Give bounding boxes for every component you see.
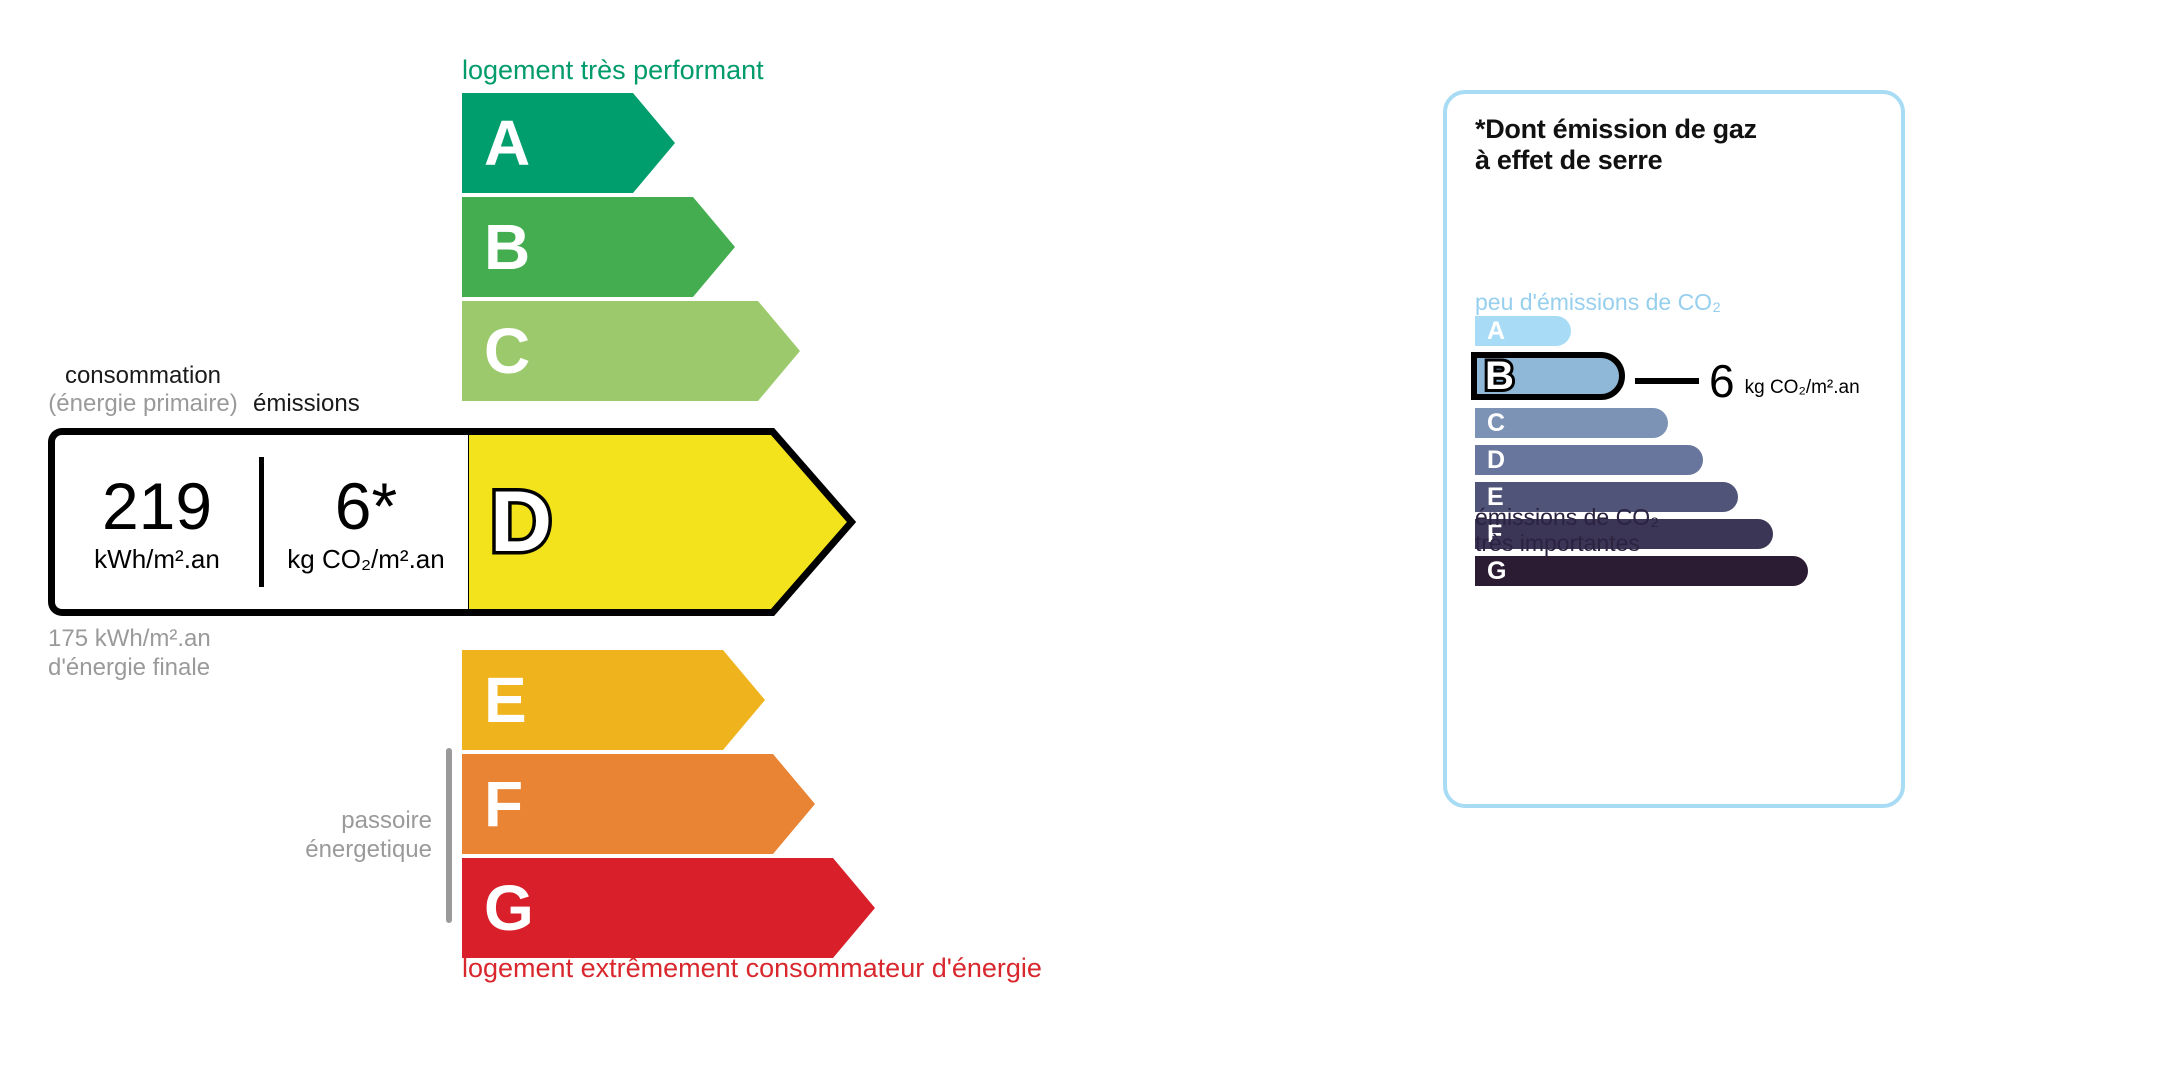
co2-callout-unit: kg CO₂/m².an (1745, 377, 1860, 399)
final-energy-label: 175 kWh/m².an d'énergie finale (48, 625, 211, 683)
energy-bar-letter-c: C (484, 301, 530, 401)
consumption-label-line1: consommation (48, 362, 238, 390)
consumption-value: 219 (102, 475, 212, 538)
callout-leader-line (1635, 378, 1699, 384)
dpe-label: logement très performant ABCDEFG consomm… (0, 0, 2170, 1079)
value-box: 219 kWh/m².an 6* kg CO₂/m².an (48, 428, 468, 616)
co2-bar-shape-g (1475, 556, 1808, 586)
co2-panel-title: *Dont émission de gaz à effet de serre (1475, 114, 1757, 176)
consumption-unit: kWh/m².an (94, 544, 220, 575)
consumption-label-line2: (énergie primaire) (48, 390, 238, 418)
co2-bar-g: G (1475, 556, 1808, 586)
co2-bars-area: AB6kg CO₂/m².anCDEFG (1475, 316, 1875, 501)
co2-bar-letter-a: A (1487, 316, 1505, 346)
co2-bottom-caption-line2: très importantes (1475, 530, 1659, 556)
co2-bar-a: A (1475, 316, 1571, 346)
energy-bar-letter-e: E (484, 650, 527, 750)
energy-bar-letter-a: A (484, 93, 530, 193)
co2-bar-letter-g: G (1487, 556, 1506, 586)
passoire-line1: passoire (222, 807, 432, 836)
co2-callout-value: 6 (1709, 358, 1735, 404)
energy-bar-b: B (462, 197, 735, 297)
energy-bottom-caption: logement extrêmement consommateur d'éner… (462, 953, 1042, 984)
passoire-line2: énergetique (222, 836, 432, 865)
energy-bar-f: F (462, 754, 815, 854)
energy-bar-c: C (462, 301, 800, 401)
energy-bar-g: G (462, 858, 875, 958)
co2-title-line2: à effet de serre (1475, 145, 1757, 176)
passoire-label: passoire énergetique (222, 807, 432, 865)
emissions-label: émissions (253, 390, 360, 418)
passoire-bracket-icon (446, 748, 452, 923)
emission-unit: kg CO₂/m².an (287, 544, 444, 575)
co2-top-caption: peu d'émissions de CO₂ (1475, 289, 1721, 316)
co2-bottom-caption-line1: émissions de CO₂ (1475, 504, 1659, 530)
co2-bar-letter-d: D (1487, 445, 1505, 475)
co2-emissions-panel: *Dont émission de gaz à effet de serre p… (1443, 90, 1905, 808)
co2-bottom-caption: émissions de CO₂ très importantes (1475, 504, 1659, 557)
energy-bar-a: A (462, 93, 675, 193)
co2-bar-shape-d (1475, 445, 1703, 475)
energy-bar-e: E (462, 650, 765, 750)
co2-bar-letter-c: C (1487, 408, 1505, 438)
co2-bar-d: D (1475, 445, 1703, 475)
energy-performance-chart: logement très performant ABCDEFG consomm… (0, 0, 1400, 1079)
energy-bar-letter-d: D (490, 428, 552, 616)
final-energy-line1: 175 kWh/m².an (48, 625, 211, 654)
emission-value-cell: 6* kg CO₂/m².an (264, 435, 468, 609)
passoire-energetique-annotation: passoire énergetique (222, 748, 452, 923)
co2-bar-letter-b: B (1485, 352, 1514, 400)
emission-value: 6* (335, 475, 397, 538)
final-energy-line2: d'énergie finale (48, 654, 211, 683)
energy-bar-letter-g: G (484, 858, 534, 958)
consumption-value-cell: 219 kWh/m².an (55, 435, 259, 609)
co2-bar-c: C (1475, 408, 1668, 438)
energy-bar-d: D (462, 428, 855, 616)
co2-selected-callout: 6kg CO₂/m².an (1635, 358, 1860, 404)
co2-bar-b: B (1471, 352, 1625, 400)
consumption-label: consommation (énergie primaire) (48, 362, 238, 419)
energy-bar-letter-b: B (484, 197, 530, 297)
co2-title-line1: *Dont émission de gaz (1475, 114, 1757, 145)
energy-bar-letter-f: F (484, 754, 523, 854)
